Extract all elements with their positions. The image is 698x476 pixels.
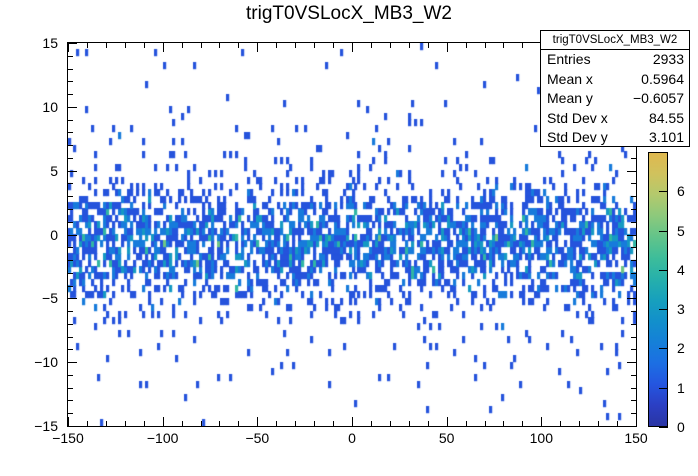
stats-row-value: 84.55: [649, 109, 684, 129]
y-major-tick: [68, 107, 77, 108]
x-minor-tick: [125, 421, 126, 426]
stats-row-value: 3.101: [649, 128, 684, 148]
x-tick-label: −50: [227, 432, 287, 444]
stats-row: Std Dev x84.55: [541, 109, 689, 129]
x-minor-tick: [106, 421, 107, 426]
x-tick-label: −100: [133, 432, 193, 444]
y-minor-tick: [68, 400, 73, 401]
palette-tick-label: 1: [677, 382, 685, 394]
x-minor-tick: [560, 421, 561, 426]
palette-tick-label: 2: [677, 342, 685, 354]
y-minor-tick: [68, 311, 73, 312]
y-tick-label: −10: [12, 356, 58, 368]
stats-box-rows: Entries2933Mean x0.5964Mean y−0.6057Std …: [541, 50, 689, 148]
stats-row-key: Mean x: [547, 70, 593, 90]
y-major-tick: [68, 235, 77, 236]
x-minor-tick: [295, 421, 296, 426]
stats-row-value: 0.5964: [641, 70, 684, 90]
x-minor-tick: [201, 421, 202, 426]
x-minor-tick: [182, 421, 183, 426]
stats-row-key: Std Dev x: [547, 109, 608, 129]
y-minor-tick: [631, 273, 636, 274]
stats-box: trigT0VSLocX_MB3_W2 Entries2933Mean x0.5…: [540, 30, 690, 147]
y-major-tick: [68, 426, 77, 427]
y-minor-tick: [68, 183, 73, 184]
palette-tick: [659, 388, 668, 389]
y-minor-tick: [68, 337, 73, 338]
y-minor-tick: [68, 120, 73, 121]
y-minor-tick: [68, 247, 73, 248]
x-minor-tick: [409, 43, 410, 48]
x-major-tick: [352, 417, 353, 426]
y-minor-tick: [68, 260, 73, 261]
stats-row: Mean x0.5964: [541, 70, 689, 90]
y-minor-tick: [631, 260, 636, 261]
x-tick-label: 50: [417, 432, 477, 444]
y-minor-tick: [68, 273, 73, 274]
page-title: trigT0VSLocX_MB3_W2: [0, 3, 698, 25]
x-minor-tick: [503, 43, 504, 48]
y-minor-tick: [68, 158, 73, 159]
x-major-tick: [163, 43, 164, 52]
stats-row-value: −0.6057: [633, 89, 684, 109]
color-palette-axis: [648, 152, 668, 427]
palette-tick: [659, 309, 668, 310]
stats-row-key: Mean y: [547, 89, 593, 109]
y-minor-tick: [631, 183, 636, 184]
y-minor-tick: [68, 56, 73, 57]
y-minor-tick: [68, 286, 73, 287]
y-tick-label: −15: [12, 420, 58, 432]
stats-row: Entries2933: [541, 50, 689, 70]
x-minor-tick: [409, 421, 410, 426]
y-major-tick: [627, 298, 636, 299]
x-minor-tick: [579, 421, 580, 426]
palette-tick-label: 3: [677, 303, 685, 315]
palette-tick-label: 0: [677, 421, 685, 433]
x-minor-tick: [485, 43, 486, 48]
y-major-tick: [68, 362, 77, 363]
y-major-tick: [68, 171, 77, 172]
palette-tick-label: 4: [677, 264, 685, 276]
x-major-tick: [636, 417, 637, 426]
x-minor-tick: [485, 421, 486, 426]
y-major-tick: [627, 235, 636, 236]
plot-canvas: trigT0VSLocX_MB3_W2 −15−10−5051015−150−1…: [0, 0, 698, 476]
y-minor-tick: [68, 69, 73, 70]
y-minor-tick: [631, 222, 636, 223]
y-minor-tick: [68, 324, 73, 325]
y-minor-tick: [631, 388, 636, 389]
y-minor-tick: [68, 196, 73, 197]
y-minor-tick: [631, 324, 636, 325]
x-minor-tick: [87, 421, 88, 426]
y-major-tick: [627, 362, 636, 363]
x-major-tick: [257, 43, 258, 52]
stats-row-key: Entries: [547, 50, 591, 70]
y-minor-tick: [68, 375, 73, 376]
x-minor-tick: [144, 421, 145, 426]
x-minor-tick: [371, 43, 372, 48]
x-minor-tick: [428, 421, 429, 426]
y-minor-tick: [68, 413, 73, 414]
stats-row: Std Dev y3.101: [541, 128, 689, 148]
x-minor-tick: [390, 421, 391, 426]
y-minor-tick: [68, 145, 73, 146]
y-minor-tick: [68, 94, 73, 95]
x-minor-tick: [276, 421, 277, 426]
y-minor-tick: [68, 388, 73, 389]
x-minor-tick: [276, 43, 277, 48]
y-minor-tick: [631, 375, 636, 376]
y-tick-label: −5: [12, 292, 58, 304]
x-minor-tick: [503, 421, 504, 426]
color-palette-gradient: [649, 153, 667, 426]
x-major-tick: [163, 417, 164, 426]
y-minor-tick: [631, 286, 636, 287]
x-minor-tick: [106, 43, 107, 48]
x-minor-tick: [201, 43, 202, 48]
x-minor-tick: [333, 421, 334, 426]
x-minor-tick: [125, 43, 126, 48]
y-major-tick: [68, 298, 77, 299]
y-minor-tick: [631, 209, 636, 210]
y-tick-label: 0: [12, 229, 58, 241]
y-minor-tick: [68, 222, 73, 223]
x-minor-tick: [219, 43, 220, 48]
palette-tick: [659, 270, 668, 271]
x-minor-tick: [598, 421, 599, 426]
y-minor-tick: [68, 132, 73, 133]
x-tick-label: 150: [606, 432, 666, 444]
palette-tick-label: 5: [677, 225, 685, 237]
x-major-tick: [257, 417, 258, 426]
x-minor-tick: [238, 421, 239, 426]
x-major-tick: [447, 417, 448, 426]
x-minor-tick: [522, 43, 523, 48]
y-minor-tick: [631, 349, 636, 350]
stats-box-title: trigT0VSLocX_MB3_W2: [541, 31, 689, 50]
x-minor-tick: [522, 421, 523, 426]
x-minor-tick: [238, 43, 239, 48]
stats-row: Mean y−0.6057: [541, 89, 689, 109]
x-minor-tick: [466, 421, 467, 426]
y-minor-tick: [631, 413, 636, 414]
y-major-tick: [627, 426, 636, 427]
y-minor-tick: [68, 209, 73, 210]
x-minor-tick: [182, 43, 183, 48]
x-major-tick: [352, 43, 353, 52]
x-minor-tick: [314, 43, 315, 48]
palette-tick: [659, 191, 668, 192]
y-tick-label: 15: [12, 37, 58, 49]
palette-tick: [659, 427, 668, 428]
x-tick-label: 100: [511, 432, 571, 444]
x-minor-tick: [333, 43, 334, 48]
y-tick-label: 5: [12, 165, 58, 177]
y-minor-tick: [631, 158, 636, 159]
stats-row-key: Std Dev y: [547, 128, 608, 148]
y-minor-tick: [631, 337, 636, 338]
x-minor-tick: [371, 421, 372, 426]
x-minor-tick: [466, 43, 467, 48]
x-tick-label: 0: [322, 432, 382, 444]
palette-tick-label: 6: [677, 185, 685, 197]
palette-tick: [659, 231, 668, 232]
palette-tick: [659, 348, 668, 349]
x-minor-tick: [87, 43, 88, 48]
x-minor-tick: [295, 43, 296, 48]
x-minor-tick: [144, 43, 145, 48]
x-minor-tick: [390, 43, 391, 48]
x-major-tick: [447, 43, 448, 52]
y-tick-label: 10: [12, 101, 58, 113]
x-minor-tick: [617, 421, 618, 426]
x-minor-tick: [314, 421, 315, 426]
x-tick-label: −150: [38, 432, 98, 444]
y-minor-tick: [631, 196, 636, 197]
y-minor-tick: [631, 247, 636, 248]
x-minor-tick: [219, 421, 220, 426]
y-minor-tick: [68, 81, 73, 82]
x-minor-tick: [428, 43, 429, 48]
y-major-tick: [68, 43, 77, 44]
y-minor-tick: [631, 311, 636, 312]
y-minor-tick: [631, 400, 636, 401]
x-major-tick: [68, 43, 69, 52]
x-major-tick: [68, 417, 69, 426]
y-major-tick: [627, 171, 636, 172]
x-major-tick: [541, 417, 542, 426]
stats-row-value: 2933: [653, 50, 684, 70]
y-minor-tick: [68, 349, 73, 350]
